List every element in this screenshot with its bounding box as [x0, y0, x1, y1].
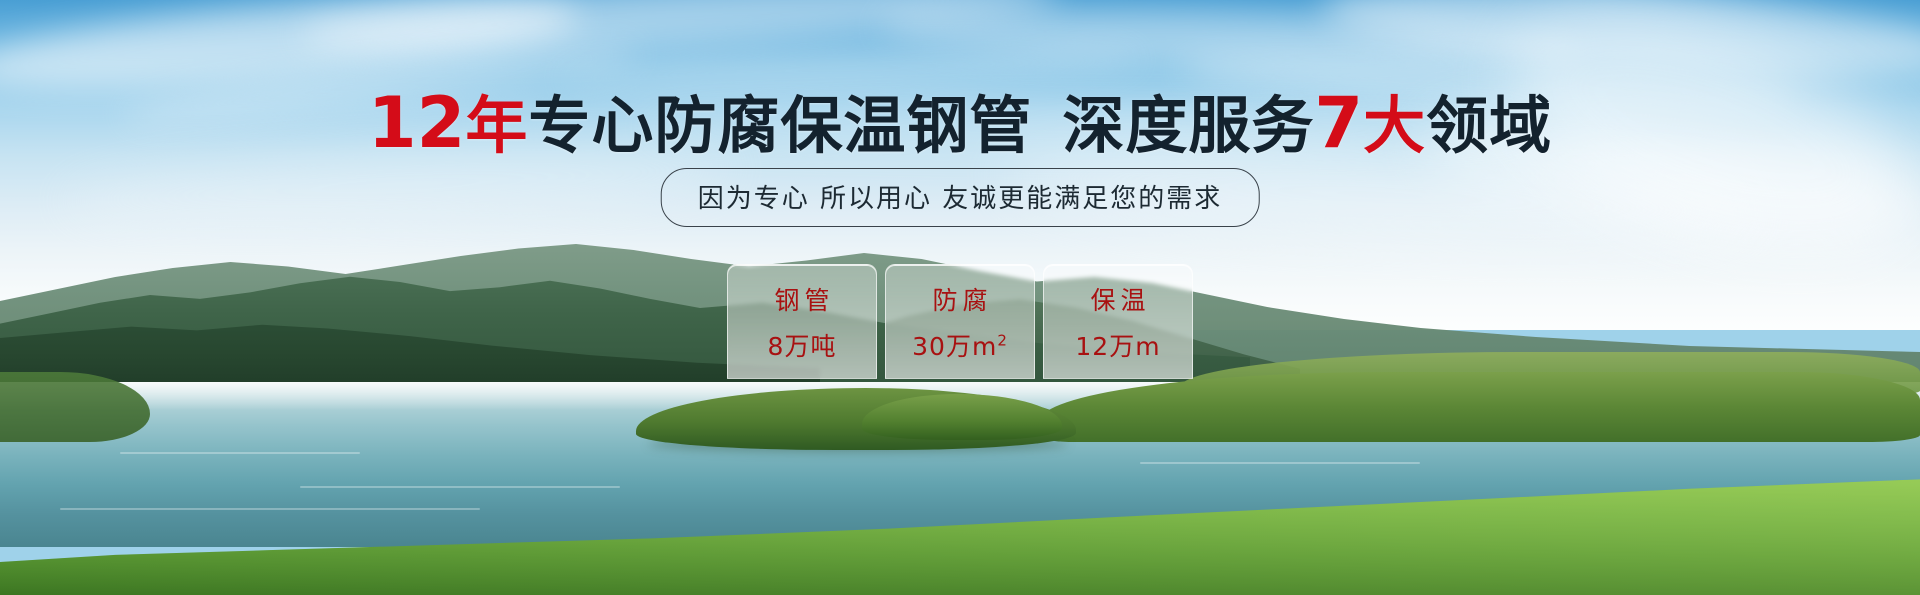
stat-card-label: 防腐 [927, 281, 992, 317]
stat-card-label: 钢管 [769, 281, 834, 317]
water-ripple [300, 486, 620, 488]
stat-card-value-text: 8万吨 [768, 332, 837, 361]
headline-years-unit: 年 [465, 89, 528, 162]
stat-card-value: 8万吨 [768, 327, 837, 363]
hero-banner: 12年专心防腐保温钢管深度服务7大领域 因为专心 所以用心 友诚更能满足您的需求… [0, 0, 1920, 595]
headline-fields-number: 7 [1314, 82, 1363, 164]
headline-service-text: 深度服务 [1062, 89, 1314, 162]
stat-card-value: 30万m2 [912, 327, 1008, 363]
banner-subtitle-pill: 因为专心 所以用心 友诚更能满足您的需求 [661, 168, 1260, 227]
stat-card-value: 12万m [1075, 327, 1160, 363]
headline-years-number: 12 [368, 82, 465, 164]
stat-card-label: 保温 [1085, 281, 1150, 317]
marsh-near [1040, 372, 1920, 442]
stat-card-value-superscript: 2 [997, 331, 1008, 349]
stat-card-steel-pipe: 钢管 8万吨 [727, 264, 877, 379]
water-ripple [120, 452, 360, 454]
stat-card-insulation: 保温 12万m [1043, 264, 1193, 379]
headline-fields-unit: 大 [1363, 89, 1426, 162]
banner-headline: 12年专心防腐保温钢管深度服务7大领域 [0, 88, 1920, 158]
headline-main-text: 专心防腐保温钢管 [528, 89, 1032, 162]
stat-card-value-text: 30万m [912, 332, 997, 361]
water-ripple [1140, 462, 1420, 464]
stat-card-anticorrosion: 防腐 30万m2 [885, 264, 1035, 379]
water-ripple [60, 508, 480, 510]
stat-card-list: 钢管 8万吨 防腐 30万m2 保温 12万m [727, 264, 1193, 379]
headline-fields-tail: 领域 [1426, 89, 1552, 162]
stat-card-value-text: 12万m [1075, 332, 1160, 361]
